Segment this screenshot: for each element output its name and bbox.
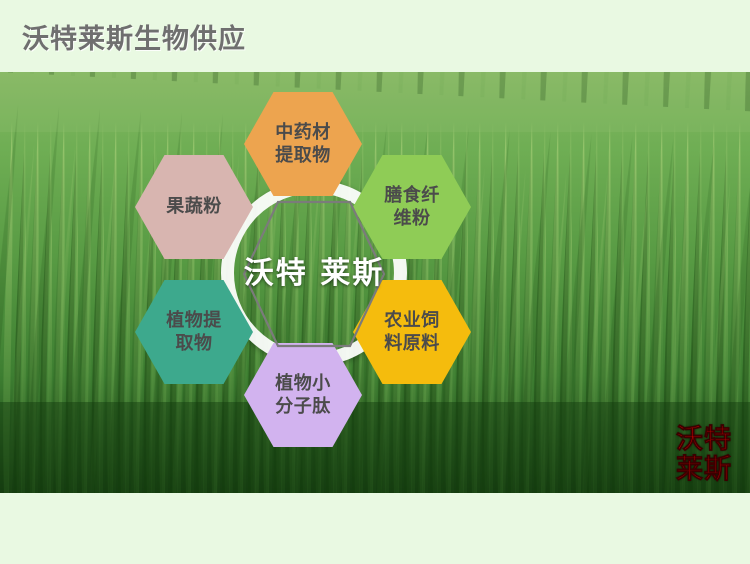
product-honeycomb: 中药材 提取物 膳食纤 维粉 农业饲 料原料 [110, 72, 510, 493]
hex-dietary-fiber-powder-line1: 膳食纤 [384, 184, 440, 207]
slide-canvas: 沃特莱斯生物供应 [0, 0, 750, 564]
hex-tcm-extract-line2: 提取物 [275, 144, 331, 167]
hex-tcm-extract[interactable]: 中药材 提取物 [244, 92, 362, 196]
hex-plant-small-molecule-peptide-line2: 分子肽 [275, 395, 331, 418]
bottom-blank-band [0, 493, 750, 564]
center-brand-line2: 莱斯 [320, 256, 384, 291]
page-title: 沃特莱斯生物供应 [22, 17, 246, 56]
hex-plant-extract-line2: 取物 [166, 332, 222, 355]
watermark-line2: 莱斯 [676, 455, 732, 485]
hex-dietary-fiber-powder-line2: 维粉 [384, 207, 440, 230]
center-brand-line1: 沃特 [244, 256, 308, 291]
hero-photo-band: 中药材 提取物 膳食纤 维粉 农业饲 料原料 [0, 72, 750, 493]
hex-agricultural-feed-material-line2: 料原料 [384, 332, 440, 355]
hex-tcm-extract-line1: 中药材 [275, 121, 331, 144]
watermark-line1: 沃特 [676, 425, 732, 455]
hex-center-brand[interactable]: 沃特 莱斯 [242, 200, 386, 348]
hex-plant-small-molecule-peptide-line1: 植物小 [275, 372, 331, 395]
hex-fruit-vegetable-powder-line1: 果蔬粉 [166, 195, 222, 218]
hex-plant-extract-line1: 植物提 [166, 309, 222, 332]
brand-watermark: 沃特 莱斯 [676, 425, 732, 485]
title-bar: 沃特莱斯生物供应 [0, 0, 750, 72]
hex-agricultural-feed-material-line1: 农业饲 [384, 309, 440, 332]
